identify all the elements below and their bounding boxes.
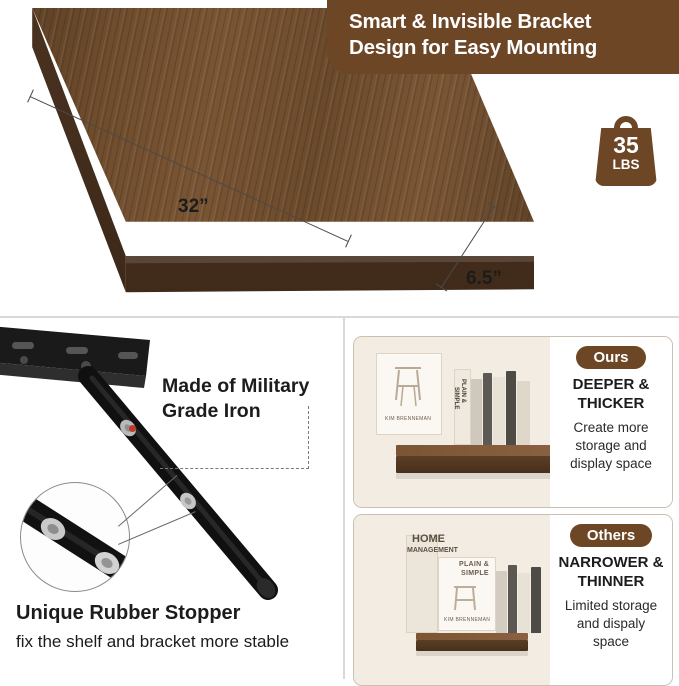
ours-heading-line-1: DEEPER & (573, 376, 650, 393)
ours-shelf-board-front (396, 456, 550, 473)
others-body-line-1: Limited storage (565, 598, 657, 613)
others-text-column: Others NARROWER & THINNER Limited storag… (550, 515, 672, 685)
ours-body-line-1: Create more (573, 420, 648, 435)
weight-capacity-badge: 35 LBS (595, 110, 657, 186)
others-heading: NARROWER & THINNER (558, 553, 664, 591)
bracket-callout-dot (129, 425, 136, 432)
weight-value: 35 (595, 134, 657, 157)
ours-book-5 (506, 371, 516, 445)
others-book-1-title: HOME (412, 533, 445, 545)
weight-icon-body: 35 LBS (595, 128, 657, 186)
ours-book-1-title: PLAIN & (460, 379, 466, 403)
rubber-stopper-zoom-circle (20, 482, 130, 592)
others-shelf-board-shadow (416, 651, 528, 656)
hero-banner-line-2: Design for Easy Mounting (349, 35, 665, 61)
ours-body: Create more storage and display space (558, 419, 664, 473)
others-book-3 (508, 565, 517, 633)
ours-shelf-board-top (396, 445, 550, 456)
others-pill: Others (570, 524, 652, 547)
bracket-callout-dashed-box (160, 406, 309, 469)
others-framed-picture: PLAIN & SIMPLE KIM BRENNEMAN (438, 557, 496, 631)
others-heading-line-2: THINNER (578, 573, 645, 590)
comparison-card-ours: KIM BRENNEMAN PLAIN & SIMPLE Ours DEEPER… (353, 336, 673, 508)
ours-heading-line-2: THICKER (578, 395, 645, 412)
dimension-label-length: 32” (178, 196, 209, 218)
others-book-2 (496, 571, 507, 633)
hero-panel: 32” 6.5” Smart & Invisible Bracket Desig… (0, 0, 679, 316)
comparison-card-others: HOME MANAGEMENT PLAIN & SIMPLE KIM BRENN… (353, 514, 673, 686)
ours-pill: Ours (576, 346, 645, 369)
others-shelf-board-front (416, 640, 528, 651)
hero-banner: Smart & Invisible Bracket Design for Eas… (327, 0, 679, 74)
others-book-5 (531, 567, 541, 633)
ours-photo: KIM BRENNEMAN PLAIN & SIMPLE (354, 337, 550, 507)
rubber-stopper-zoom-art (21, 483, 129, 591)
others-frame-caption: KIM BRENNEMAN (444, 617, 490, 623)
dimension-label-depth: 6.5” (466, 268, 502, 290)
ours-body-line-3: display space (570, 456, 652, 471)
others-book-4 (518, 573, 530, 633)
others-frame-chair-art (439, 578, 493, 622)
ours-book-6 (517, 381, 530, 445)
ours-frame-caption: KIM BRENNEMAN (385, 416, 431, 422)
ours-shelf-board-shadow (396, 473, 550, 479)
others-body: Limited storage and dispaly space (558, 597, 664, 651)
ours-book-4 (493, 377, 505, 445)
ours-framed-picture: KIM BRENNEMAN (376, 353, 442, 435)
others-shelf-board-top (416, 633, 528, 640)
ours-book-1-subtitle: SIMPLE (453, 387, 459, 409)
comparison-panel: KIM BRENNEMAN PLAIN & SIMPLE Ours DEEPER… (345, 318, 679, 679)
ours-heading: DEEPER & THICKER (558, 375, 664, 413)
ours-book-2 (471, 379, 482, 445)
others-body-line-3: space (593, 634, 629, 649)
ours-book-3 (483, 373, 492, 445)
ours-text-column: Ours DEEPER & THICKER Create more storag… (550, 337, 672, 507)
others-photo: HOME MANAGEMENT PLAIN & SIMPLE KIM BRENN… (354, 515, 550, 685)
bracket-detail-panel: Made of Military Grade Iron Unique Rubbe… (0, 318, 343, 679)
others-frame-book-subtitle: SIMPLE (461, 570, 489, 577)
rubber-stopper-subtitle: fix the shelf and bracket more stable (16, 632, 289, 652)
hero-banner-line-1: Smart & Invisible Bracket (349, 9, 665, 35)
ours-body-line-2: storage and (575, 438, 646, 453)
weight-unit: LBS (595, 157, 657, 173)
ours-frame-chair-art (377, 356, 439, 416)
rubber-stopper-title: Unique Rubber Stopper (16, 602, 240, 625)
others-book-1-subtitle: MANAGEMENT (407, 547, 458, 554)
others-heading-line-1: NARROWER & (559, 554, 664, 571)
bracket-material-title-line-1: Made of Military (162, 375, 309, 397)
others-body-line-2: and dispaly (577, 616, 645, 631)
others-frame-book-title: PLAIN & (459, 561, 489, 568)
